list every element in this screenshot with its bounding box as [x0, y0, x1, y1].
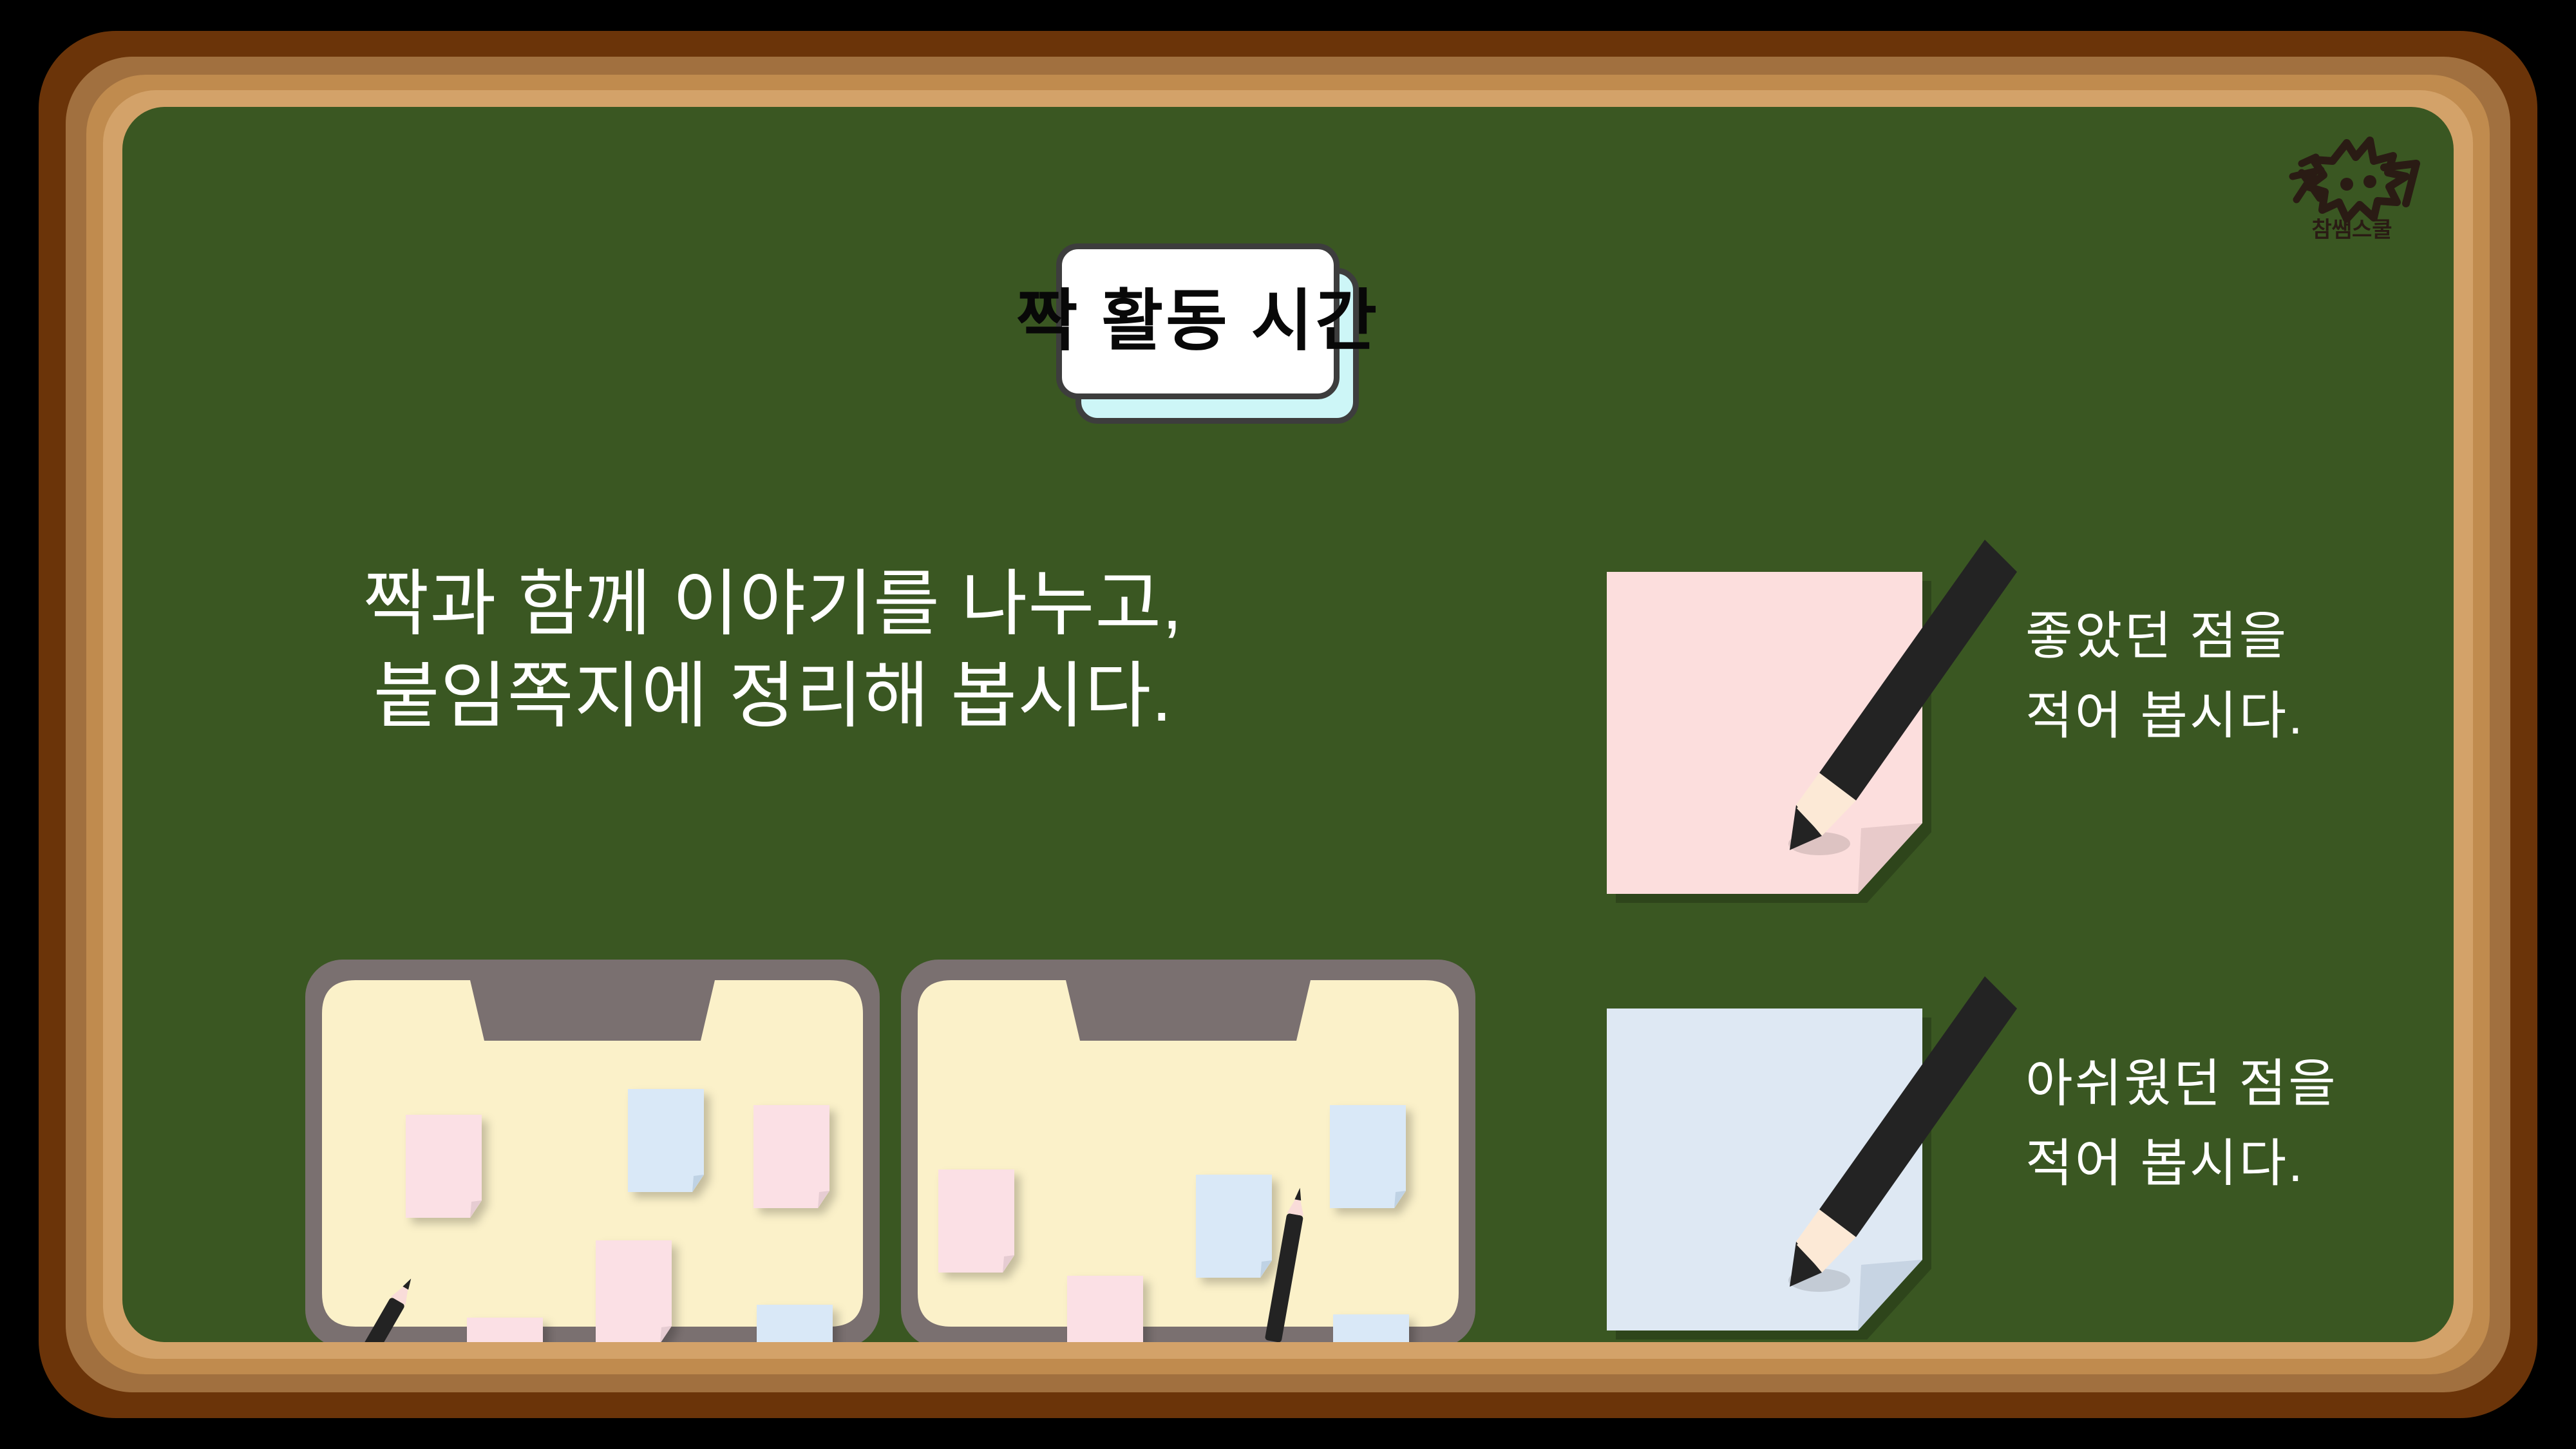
blue-sticky-note — [1607, 1009, 1922, 1331]
sticky-note — [753, 1105, 829, 1208]
good-caption-line-2: 적어 봅시다. — [2025, 676, 2304, 756]
activity-prompt: 짝과 함께 이야기를 나누고, 붙임쪽지에 정리해 봅시다. — [193, 558, 1352, 743]
regret-caption-line-1: 아쉬웠던 점을 — [2025, 1044, 2338, 1124]
desk-left — [303, 957, 882, 1342]
slide-root: 참쌤스쿨 짝 활동 시간 짝과 함께 이야기를 나누고, 붙임쪽지에 정리해 봅… — [0, 0, 2576, 1449]
sticky-note — [628, 1089, 704, 1192]
title-banner: 짝 활동 시간 — [1056, 243, 1359, 437]
prompt-line-1: 짝과 함께 이야기를 나누고, — [363, 563, 1183, 644]
logo-icon: 참쌤스쿨 — [2280, 124, 2428, 243]
pencil-icon — [1607, 1009, 1922, 1331]
sticky-note — [1067, 1276, 1143, 1342]
sticky-note — [757, 1305, 833, 1342]
frame-brown: 참쌤스쿨 짝 활동 시간 짝과 함께 이야기를 나누고, 붙임쪽지에 정리해 봅… — [66, 57, 2510, 1392]
sticky-note — [406, 1115, 482, 1218]
logo-label: 참쌤스쿨 — [2311, 218, 2392, 242]
pink-sticky-note — [1607, 572, 1922, 894]
sticky-note — [1333, 1314, 1409, 1342]
sticky-note — [938, 1170, 1014, 1273]
page-title: 짝 활동 시간 — [1016, 288, 1379, 355]
frame-light-brown: 참쌤스쿨 짝 활동 시간 짝과 함께 이야기를 나누고, 붙임쪽지에 정리해 봅… — [86, 75, 2490, 1374]
sticky-note — [467, 1318, 543, 1342]
sticky-note — [1196, 1175, 1272, 1278]
sticky-note — [596, 1240, 672, 1342]
frame-tan: 참쌤스쿨 짝 활동 시간 짝과 함께 이야기를 나누고, 붙임쪽지에 정리해 봅… — [103, 90, 2473, 1359]
good-points-caption: 좋았던 점을 적어 봅시다. — [2025, 596, 2304, 756]
chalkboard: 참쌤스쿨 짝 활동 시간 짝과 함께 이야기를 나누고, 붙임쪽지에 정리해 봅… — [122, 107, 2454, 1342]
title-banner-card: 짝 활동 시간 — [1056, 243, 1340, 399]
good-caption-line-1: 좋았던 점을 — [2025, 596, 2304, 676]
sticky-note — [1330, 1105, 1406, 1208]
prompt-line-2: 붙임쪽지에 정리해 봅시다. — [193, 650, 1352, 742]
regret-points-caption: 아쉬웠던 점을 적어 봅시다. — [2025, 1044, 2338, 1204]
desk-right — [898, 957, 1478, 1342]
frame-outer-dark: 참쌤스쿨 짝 활동 시간 짝과 함께 이야기를 나누고, 붙임쪽지에 정리해 봅… — [39, 31, 2537, 1418]
regret-caption-line-2: 적어 봅시다. — [2025, 1124, 2338, 1204]
pencil-icon — [1607, 572, 1922, 894]
chamssaem-school-logo: 참쌤스쿨 — [2280, 124, 2428, 243]
